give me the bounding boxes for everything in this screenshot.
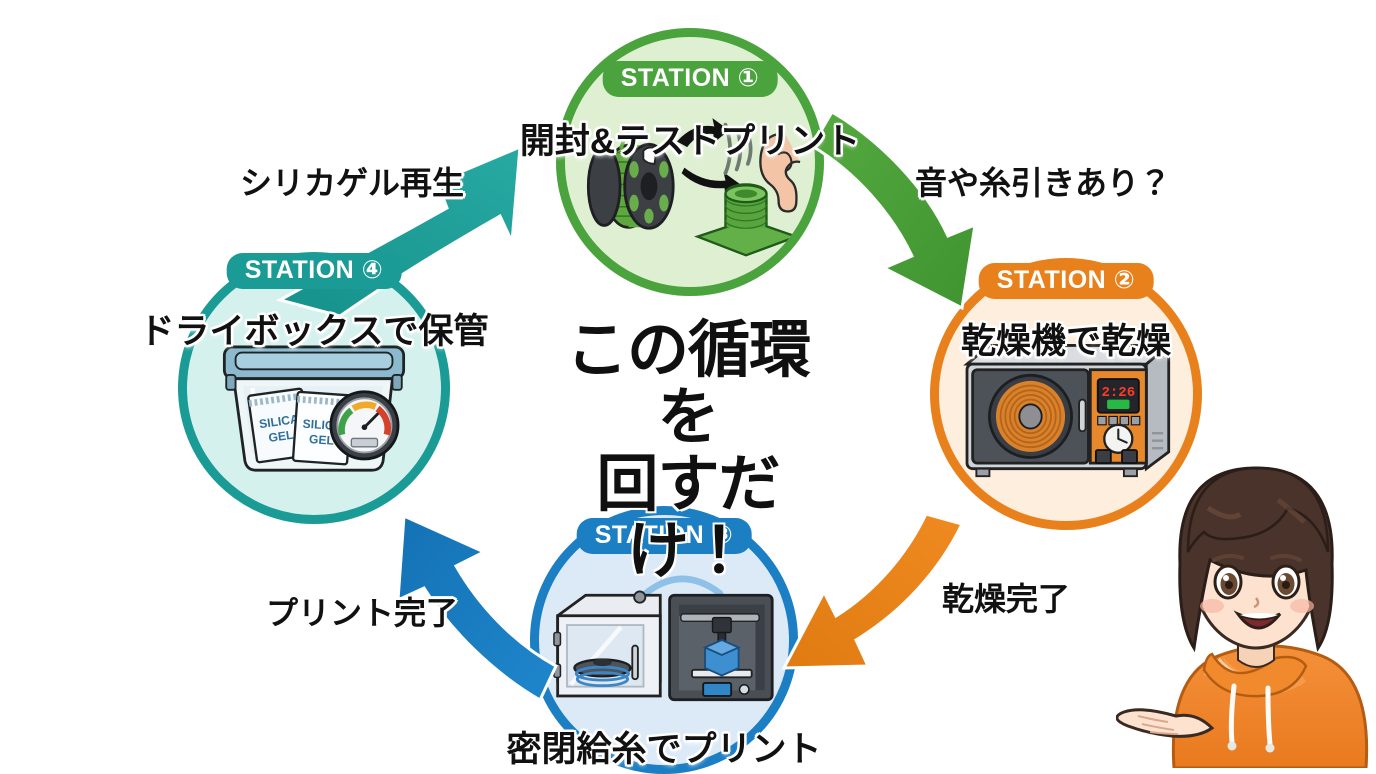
station-1-title: 開封&テストプリント — [520, 113, 860, 164]
station-2-title: 乾燥機で乾燥 — [961, 313, 1171, 364]
station-1-badge: STATION ① — [603, 61, 778, 97]
station-2-badge: STATION ② — [979, 263, 1154, 299]
center-headline: この循環を 回すだけ！ — [538, 318, 838, 586]
transition-label-print-done: プリント完了 — [266, 588, 458, 634]
infographic-canvas: STATION ① 開封&テストプリント 2:26 — [0, 0, 1376, 768]
headline-line-1: この循環を — [538, 318, 838, 452]
transition-label-silicagel: シリカゲル再生 — [240, 158, 464, 204]
transition-label-drying-done: 乾燥完了 — [942, 574, 1070, 620]
transition-label-sound-stringing: 音や糸引きあり？ — [915, 158, 1171, 204]
headline-line-2: 回すだけ！ — [538, 452, 838, 586]
station-4-title: ドライボックスで保管 — [140, 303, 489, 354]
presenter-character — [1116, 448, 1376, 768]
station-4-badge: STATION ④ — [227, 253, 402, 289]
station-3-title: 密閉給糸でプリント — [506, 721, 821, 772]
